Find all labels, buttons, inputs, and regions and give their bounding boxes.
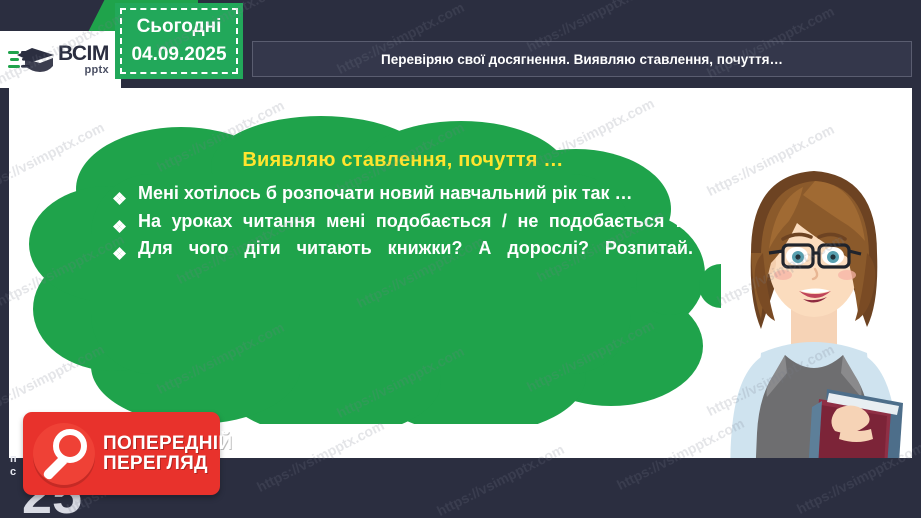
cloud-text-block: Виявляю ставлення, почуття … Мені хотіло… — [113, 149, 693, 263]
footer-note-line2: с — [10, 466, 17, 480]
preview-badge-text: ПОПЕРЕДНІЙ ПЕРЕГЛЯД — [103, 434, 232, 474]
list-item-label: Мені хотілось б розпочати новий навчальн… — [138, 183, 633, 203]
list-item: Для чого діти читають книжки? А дорослі?… — [113, 235, 693, 262]
graduation-cap-icon — [8, 42, 54, 78]
slide-stage: Виявляю ставлення, почуття … Мені хотіло… — [0, 0, 921, 518]
list-item-label: На уроках читання мені подобається / не … — [138, 208, 693, 235]
list-item: Мені хотілось б розпочати новий навчальн… — [113, 180, 693, 207]
diamond-checker-bullet-icon — [113, 214, 126, 227]
logo-title: ВСІМ — [58, 43, 109, 64]
diamond-checker-bullet-icon — [113, 186, 126, 199]
preview-badge-line1: ПОПЕРЕДНІЙ — [103, 434, 232, 454]
preview-badge-line2: ПЕРЕГЛЯД — [103, 454, 232, 474]
schoolgirl-with-books-icon — [699, 157, 912, 509]
footer-note-line1: п — [10, 453, 17, 467]
logo-subtitle: pptx — [58, 65, 109, 76]
page-title: Перевіряю свої досягнення. Виявляю ставл… — [252, 41, 912, 77]
logo-wordmark: ВСІМ pptx — [58, 43, 109, 76]
footer-note: п с — [10, 453, 17, 481]
preview-badge[interactable]: ПОПЕРЕДНІЙ ПЕРЕГЛЯД — [23, 412, 220, 495]
brand-logo[interactable]: ВСІМ pptx — [8, 36, 120, 83]
list-item: На уроках читання мені подобається / не … — [113, 208, 693, 235]
today-date-badge: Сьогодні 04.09.2025 — [115, 3, 243, 79]
badge-text: Сьогодні 04.09.2025 — [115, 3, 243, 79]
cloud-bullet-list: Мені хотілось б розпочати новий навчальн… — [113, 180, 693, 262]
badge-label: Сьогодні — [137, 13, 222, 41]
cloud-title: Виявляю ставлення, почуття … — [113, 149, 693, 172]
badge-date: 04.09.2025 — [131, 41, 226, 69]
list-item-label: Для чого діти читають книжки? А дорослі?… — [138, 235, 693, 262]
diamond-checker-bullet-icon — [113, 241, 126, 254]
magnifier-icon — [33, 423, 95, 485]
